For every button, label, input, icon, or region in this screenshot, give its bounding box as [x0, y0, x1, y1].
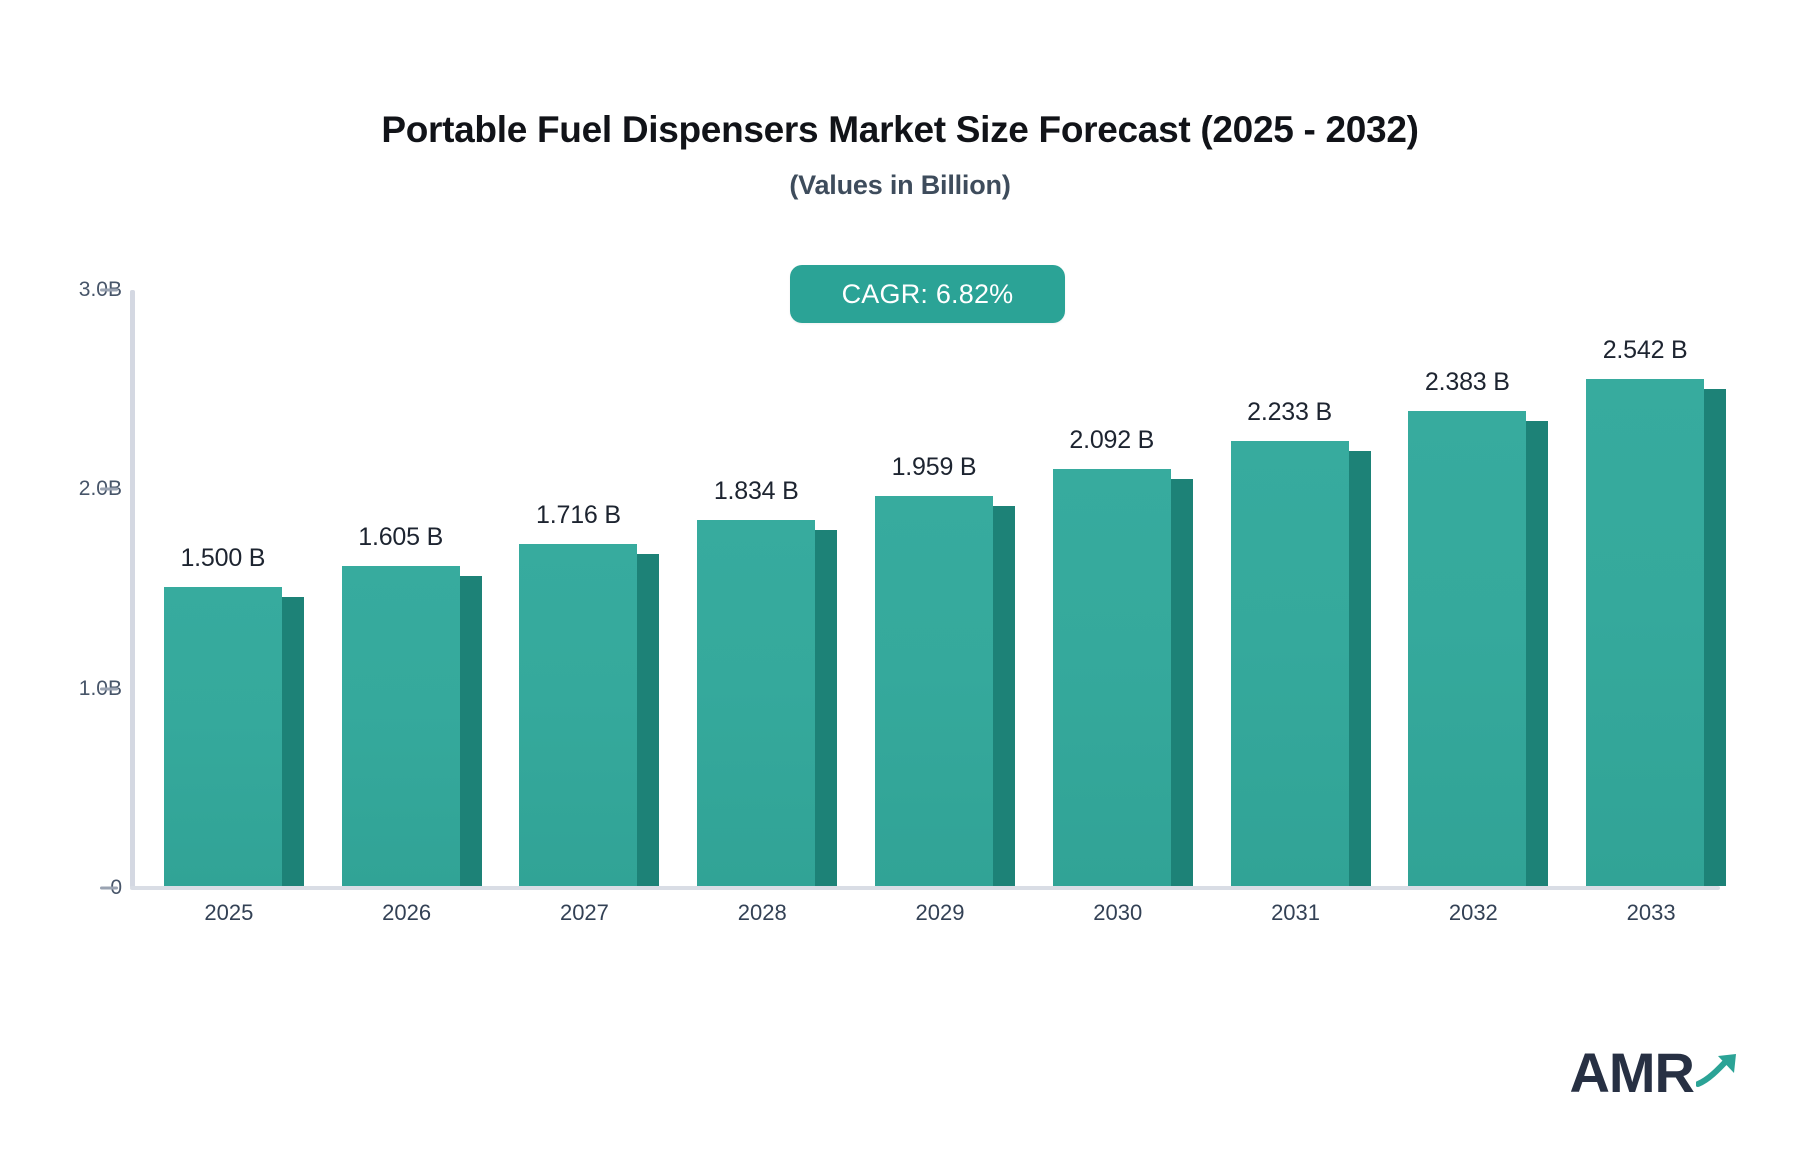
bar-side-face [815, 530, 837, 886]
bar-side-face [1704, 389, 1726, 886]
x-axis-tick-label: 2025 [204, 900, 253, 926]
bar-column: 2.092 B [1053, 469, 1171, 886]
arrow-up-right-icon [1696, 1050, 1742, 1095]
x-axis-tick-label: 2031 [1271, 900, 1320, 926]
x-axis-labels: 202520262027202820292030203120322033 [130, 900, 1730, 940]
page-title: Portable Fuel Dispensers Market Size For… [0, 110, 1800, 151]
bar-side-face [460, 576, 482, 886]
y-axis-tick-mark [100, 887, 118, 890]
bar-column: 2.233 B [1231, 441, 1349, 886]
bar-front-face [1408, 411, 1526, 886]
bar-side-face [1171, 479, 1193, 886]
bar-value-label: 1.605 B [358, 523, 443, 552]
bar-front-face [519, 544, 637, 886]
bar-front-face [1231, 441, 1349, 886]
bar-value-label: 2.233 B [1247, 398, 1332, 427]
x-axis-tick-label: 2030 [1093, 900, 1142, 926]
bar-column: 1.605 B [342, 566, 460, 886]
title-block: Portable Fuel Dispensers Market Size For… [0, 110, 1800, 201]
plot-area: 01.0B2.0B3.0B 1.500 B1.605 B1.716 B1.834… [130, 290, 1730, 890]
x-axis-tick-label: 2027 [560, 900, 609, 926]
bar-value-label: 2.092 B [1069, 426, 1154, 455]
bar-column: 1.959 B [875, 496, 993, 886]
y-axis-tick-mark [100, 687, 118, 690]
bar-column: 1.500 B [164, 587, 282, 886]
x-axis-tick-label: 2032 [1449, 900, 1498, 926]
chart-subtitle: (Values in Billion) [0, 170, 1800, 201]
x-axis-tick-label: 2028 [738, 900, 787, 926]
amr-logo-text: AMR [1569, 1045, 1694, 1101]
amr-logo: AMR [1569, 1045, 1742, 1101]
bar-front-face [342, 566, 460, 886]
bar-front-face [875, 496, 993, 886]
y-axis-tick-mark [100, 289, 118, 292]
bar-front-face [1586, 379, 1704, 886]
bar-value-label: 2.383 B [1425, 368, 1510, 397]
bar-value-label: 1.500 B [180, 544, 265, 573]
bar-column: 2.542 B [1586, 379, 1704, 886]
bar-value-label: 2.542 B [1603, 336, 1688, 365]
bar-side-face [282, 597, 304, 886]
bar-column: 2.383 B [1408, 411, 1526, 886]
bar-side-face [1349, 451, 1371, 886]
bar-side-face [637, 554, 659, 886]
bar-value-label: 1.959 B [892, 453, 977, 482]
bar-front-face [164, 587, 282, 886]
bar-side-face [1526, 421, 1548, 886]
bar-front-face [1053, 469, 1171, 886]
x-axis-tick-label: 2033 [1627, 900, 1676, 926]
x-axis-tick-label: 2026 [382, 900, 431, 926]
chart-card: Portable Fuel Dispensers Market Size For… [0, 0, 1800, 1156]
x-axis-tick-label: 2029 [916, 900, 965, 926]
bar-column: 1.716 B [519, 544, 637, 886]
bar-value-label: 1.834 B [714, 477, 799, 506]
bar-column: 1.834 B [697, 520, 815, 886]
bar-side-face [993, 506, 1015, 886]
bar-value-label: 1.716 B [536, 501, 621, 530]
bar-front-face [697, 520, 815, 886]
bars-layer: 1.500 B1.605 B1.716 B1.834 B1.959 B2.092… [130, 290, 1730, 888]
y-axis-tick-mark [100, 488, 118, 491]
